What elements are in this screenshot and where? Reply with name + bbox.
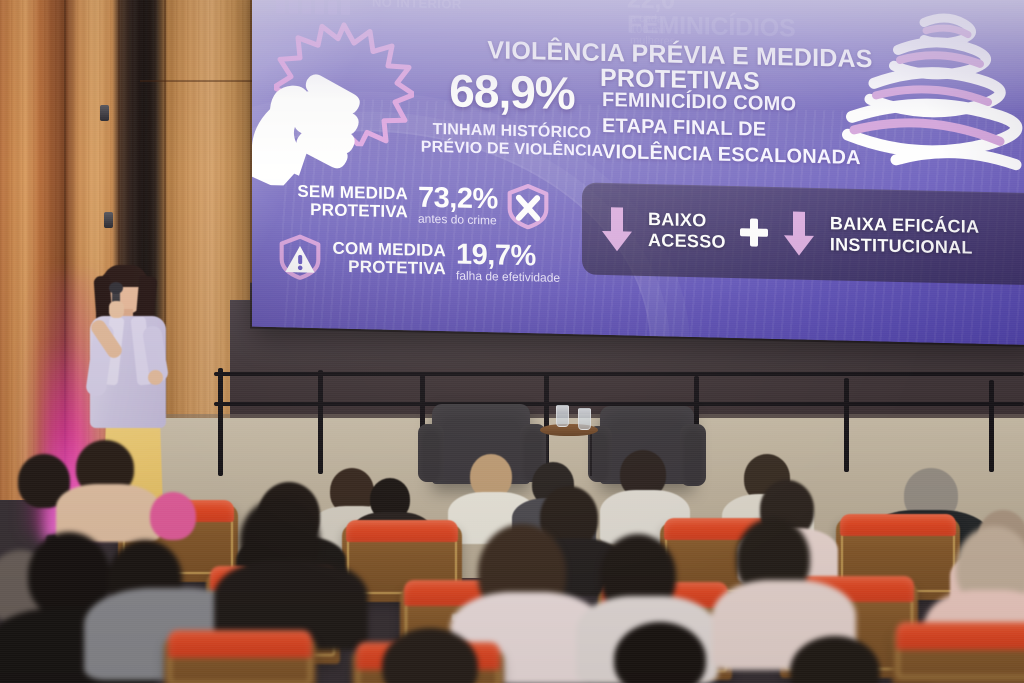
plus-icon xyxy=(740,218,768,247)
presentation-slide: PICOS EXTREMOS NO INTERIOR 22,0 FEMINICÍ… xyxy=(252,0,1024,345)
shield-x-icon xyxy=(506,183,550,230)
arrow-down-icon xyxy=(782,211,816,256)
ghost-bar-chart-icon xyxy=(276,0,350,15)
seat-cushion xyxy=(840,514,956,536)
ghost-header: PICOS EXTREMOS NO INTERIOR 22,0 FEMINICÍ… xyxy=(372,0,495,12)
microphone-head xyxy=(109,282,123,294)
shield-warning-icon xyxy=(278,233,322,280)
stat-note: falha de efetividade xyxy=(456,269,560,283)
callout-right-text: BAIXA EFICÁCIA INSTITUCIONAL xyxy=(830,213,980,258)
stat-row: SEM MEDIDA PROTETIVA 73,2% antes do crim… xyxy=(290,178,550,230)
callout-box: BAIXO ACESSO BAIXA EFICÁCIA INSTITUCIONA… xyxy=(582,182,1024,285)
hero-stat-caption: TINHAM HISTÓRICO PRÉVIO DE VIOLÊNCIA xyxy=(392,120,632,162)
callout-left-line1: BAIXO xyxy=(648,209,726,232)
door-hinge-icon xyxy=(100,105,109,121)
speaker-hand-left xyxy=(109,301,124,318)
seat-cushion xyxy=(896,622,1024,650)
fist-icon xyxy=(252,45,402,189)
callout-right-line2: INSTITUCIONAL xyxy=(830,234,980,258)
stat-value: 73,2% xyxy=(418,183,498,214)
ghost-header-line2: NO INTERIOR xyxy=(372,0,495,12)
audience-head xyxy=(150,492,196,540)
speaker-hand-right xyxy=(148,370,163,385)
presentation-photo-scene: PICOS EXTREMOS NO INTERIOR 22,0 FEMINICÍ… xyxy=(0,0,1024,683)
raised-fist-graphic xyxy=(264,17,424,191)
projection-screen: PICOS EXTREMOS NO INTERIOR 22,0 FEMINICÍ… xyxy=(252,0,1024,345)
callout-left-line2: ACESSO xyxy=(648,230,726,253)
stat-label: COM MEDIDA PROTETIVA xyxy=(328,239,446,278)
seat-cushion xyxy=(168,630,312,658)
arrow-down-icon xyxy=(600,207,634,252)
water-glass xyxy=(556,405,569,427)
audience xyxy=(0,440,1024,683)
stat-note: antes do crime xyxy=(418,212,498,226)
water-glass xyxy=(578,408,591,430)
stat-row: COM MEDIDA PROTETIVA 19,7% falha de efet… xyxy=(278,233,560,286)
stat-label: SEM MEDIDA PROTETIVA xyxy=(290,183,408,222)
stat-label-line2: PROTETIVA xyxy=(290,201,408,222)
stat-value: 19,7% xyxy=(456,240,560,271)
seat-cushion xyxy=(346,520,458,542)
callout-left-text: BAIXO ACESSO xyxy=(648,209,726,253)
wood-seam xyxy=(140,80,252,82)
railing-rail xyxy=(214,372,1024,376)
escalation-spiral-icon xyxy=(836,0,1024,203)
door-hinge-icon xyxy=(104,212,113,228)
hero-stat-value: 68,9% xyxy=(412,66,612,117)
stat-label-line2: PROTETIVA xyxy=(328,257,446,278)
